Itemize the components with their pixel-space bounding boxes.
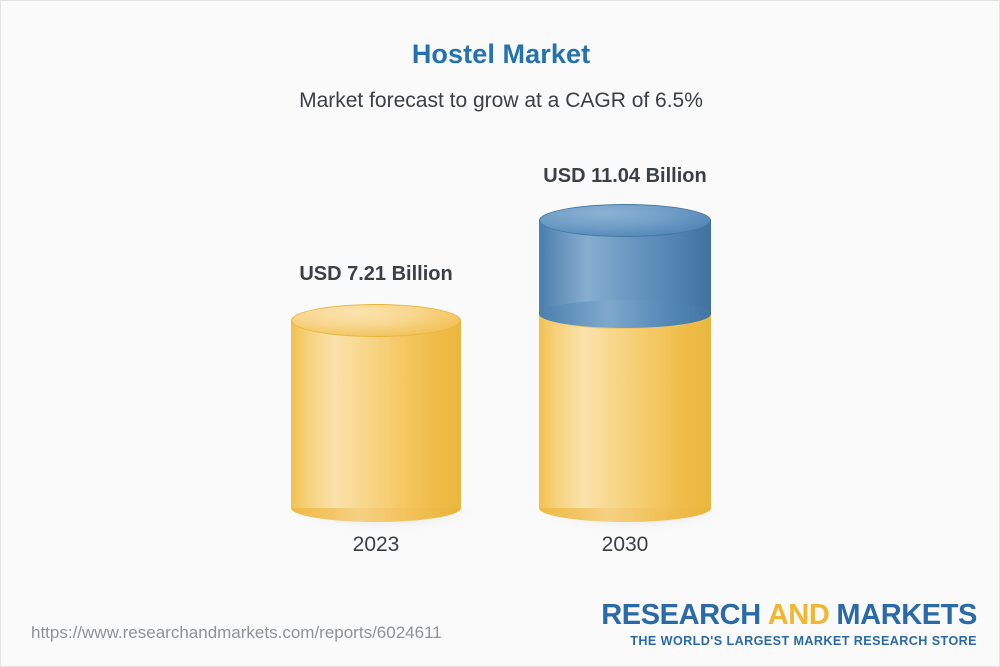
brand-logo-word-research: RESEARCH [601,599,761,631]
cylinder-top-cap-2023 [291,304,461,337]
source-url[interactable]: https://www.researchandmarkets.com/repor… [31,623,442,643]
cylinder-top-cap-2030 [539,204,711,237]
cylinder-blue-bottom-cap-2030 [539,300,711,328]
value-label-2023: USD 7.21 Billion [266,263,486,286]
cylinder-body-2023 [291,320,461,508]
brand-logo[interactable]: RESEARCHANDMARKETS THE WORLD'S LARGEST M… [601,601,977,648]
cylinder-bar-2023 [291,304,461,516]
cylinder-bar-2030 [539,204,711,516]
category-label-2030: 2030 [515,533,735,557]
page-title: Hostel Market [1,39,1000,70]
cylinder-gold-segment-2030 [539,314,711,508]
brand-logo-wordmark: RESEARCHANDMARKETS [601,601,977,631]
category-label-2023: 2023 [266,533,486,557]
brand-logo-word-and: AND [768,599,830,631]
chart-subtitle: Market forecast to grow at a CAGR of 6.5… [1,89,1000,113]
brand-logo-tagline: THE WORLD'S LARGEST MARKET RESEARCH STOR… [601,634,977,648]
value-label-2030: USD 11.04 Billion [515,165,735,188]
brand-logo-word-markets: MARKETS [836,599,977,631]
chart-canvas: Hostel Market Market forecast to grow at… [0,0,1000,667]
